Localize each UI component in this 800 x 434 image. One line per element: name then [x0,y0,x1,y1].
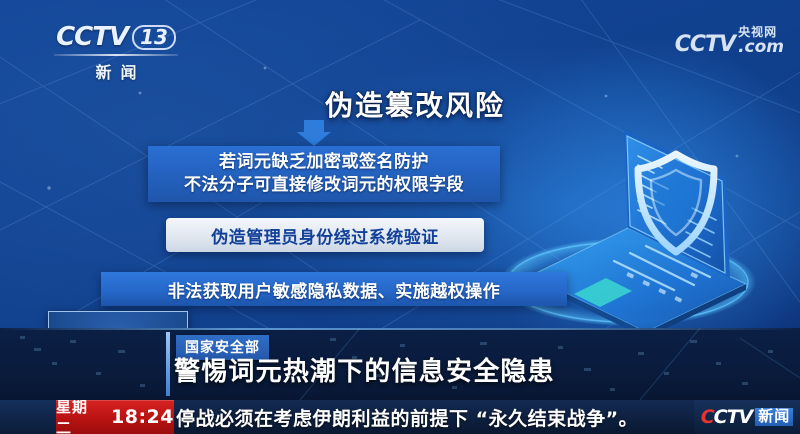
cctv13-logo-number: 13 [132,25,176,50]
broadcast-screen: CCTV 13 新闻 CCTV 央视网 .com [0,0,800,434]
risk-panel-secondary: 伪造管理员身份绕过系统验证 [166,218,484,252]
risk-panel-primary-line2: 不法分子可直接修改词元的权限字段 [184,174,464,197]
cctv13-logo-subtitle: 新闻 [50,59,182,83]
risk-panel-tertiary: 非法获取用户敏感隐私数据、实施越权操作 [101,272,567,306]
ticker-left-spacer [0,400,56,434]
lower-third-headline: 警惕词元热潮下的信息安全隐患 [174,357,555,387]
lower-third-accent-bar [166,332,170,396]
cctv13-logo-divider [54,54,178,56]
risk-panel-secondary-text: 伪造管理员身份绕过系统验证 [211,223,439,248]
infographic-title: 伪造篡改风险 [0,84,800,124]
risk-panel-primary-line1: 若词元缺乏加密或签名防护 [219,151,429,174]
ticker-logo-chinese: 新闻 [755,408,793,426]
cctv-com-wordmark: CCTV [675,34,735,56]
cctv13-logo: CCTV 13 新闻 [50,22,182,83]
ticker-logo-wordmark: CCTV [701,408,753,427]
news-ticker: 星期二 18:24 停战必须在考虑伊朗利益的前提下 “永久结束战争”。 CCTV… [0,400,800,434]
infographic-title-text: 伪造篡改风险 [325,89,505,122]
ticker-weekday: 星期二 [56,400,103,434]
lower-third-banner: 国家安全部 警惕词元热潮下的信息安全隐患 [0,328,800,400]
arrow-down-icon [297,120,331,146]
cctv-com-logo: CCTV 央视网 .com [675,26,784,56]
ticker-clock: 18:24 [111,406,174,428]
lower-third-top-line [0,328,800,330]
risk-panel-primary: 若词元缺乏加密或签名防护 不法分子可直接修改词元的权限字段 [148,146,500,202]
cctv-com-domain: .com [738,39,784,56]
ticker-time-block: 星期二 18:24 [56,400,174,434]
ticker-headline-text: 停战必须在考虑伊朗利益的前提下 “永久结束战争”。 [174,400,694,434]
ticker-cctv-news-logo: CCTV 新闻 [694,400,800,434]
risk-panel-tertiary-text: 非法获取用户敏感隐私数据、实施越权操作 [168,277,501,302]
cctv13-logo-wordmark: CCTV [56,22,128,52]
